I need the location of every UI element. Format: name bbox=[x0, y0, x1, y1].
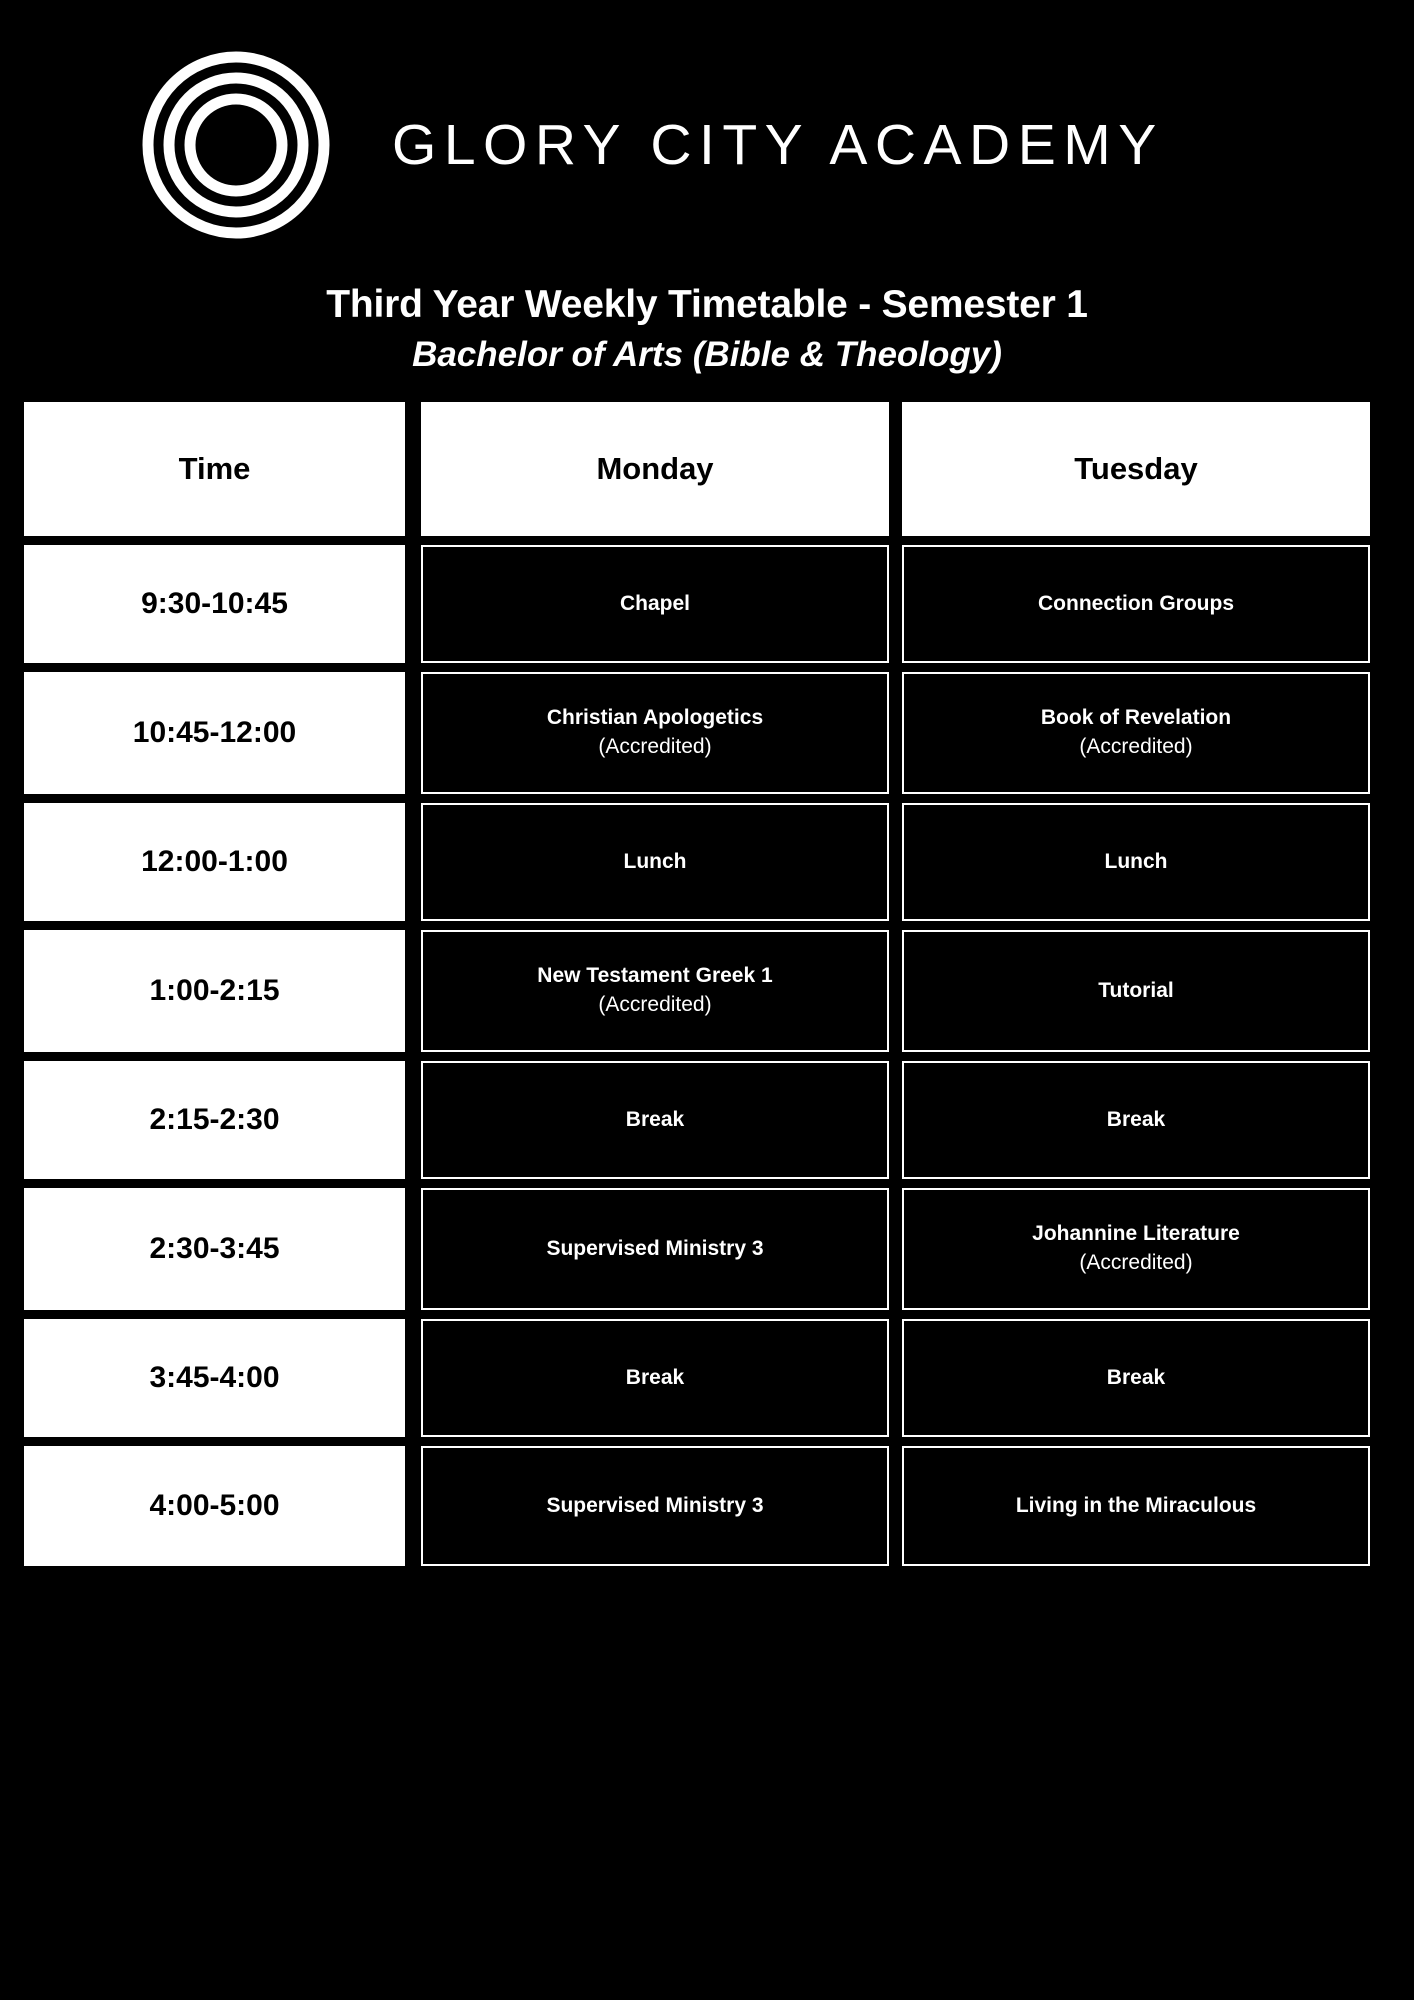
timetable-poster: GLORY CITY ACADEMY Third Year Weekly Tim… bbox=[0, 0, 1414, 2000]
table-row: 12:00-1:00 Lunch Lunch bbox=[24, 803, 1394, 921]
session-cell-tuesday: Tutorial bbox=[902, 930, 1370, 1052]
table-row: 1:00-2:15 New Testament Greek 1 (Accredi… bbox=[24, 930, 1394, 1052]
table-row: 4:00-5:00 Supervised Ministry 3 Living i… bbox=[24, 1446, 1394, 1566]
session-cell-monday: Lunch bbox=[421, 803, 889, 921]
concentric-rings-logo-icon bbox=[140, 49, 332, 241]
session-cell-monday: Supervised Ministry 3 bbox=[421, 1188, 889, 1310]
session-cell-tuesday: Johannine Literature (Accredited) bbox=[902, 1188, 1370, 1310]
session-note: (Accredited) bbox=[1079, 733, 1192, 760]
session-title: Break bbox=[1107, 1107, 1165, 1133]
session-cell-tuesday: Living in the Miraculous bbox=[902, 1446, 1370, 1566]
session-title: Supervised Ministry 3 bbox=[546, 1236, 763, 1262]
session-cell-monday: Chapel bbox=[421, 545, 889, 663]
session-title: Living in the Miraculous bbox=[1016, 1493, 1256, 1519]
table-row: 10:45-12:00 Christian Apologetics (Accre… bbox=[24, 672, 1394, 794]
session-cell-monday: Christian Apologetics (Accredited) bbox=[421, 672, 889, 794]
session-cell-monday: Supervised Ministry 3 bbox=[421, 1446, 889, 1566]
time-slot: 4:00-5:00 bbox=[24, 1446, 405, 1566]
time-slot: 3:45-4:00 bbox=[24, 1319, 405, 1437]
page-subtitle: Bachelor of Arts (Bible & Theology) bbox=[0, 334, 1414, 375]
page-title: Third Year Weekly Timetable - Semester 1 bbox=[0, 282, 1414, 328]
session-title: Break bbox=[1107, 1365, 1165, 1391]
time-slot: 1:00-2:15 bbox=[24, 930, 405, 1052]
session-title: Book of Revelation bbox=[1041, 705, 1231, 731]
session-cell-monday: Break bbox=[421, 1319, 889, 1437]
session-title: Break bbox=[626, 1107, 684, 1133]
session-title: Connection Groups bbox=[1038, 591, 1234, 617]
title-block: Third Year Weekly Timetable - Semester 1… bbox=[0, 282, 1414, 375]
session-note: (Accredited) bbox=[1079, 1249, 1192, 1276]
session-cell-tuesday: Break bbox=[902, 1061, 1370, 1179]
table-row: 2:30-3:45 Supervised Ministry 3 Johannin… bbox=[24, 1188, 1394, 1310]
column-header-monday: Monday bbox=[421, 402, 889, 536]
session-cell-tuesday: Connection Groups bbox=[902, 545, 1370, 663]
session-title: Johannine Literature bbox=[1032, 1221, 1240, 1247]
session-cell-tuesday: Break bbox=[902, 1319, 1370, 1437]
session-cell-tuesday: Lunch bbox=[902, 803, 1370, 921]
brand-wordmark: GLORY CITY ACADEMY bbox=[392, 117, 1164, 174]
session-title: Break bbox=[626, 1365, 684, 1391]
time-slot: 9:30-10:45 bbox=[24, 545, 405, 663]
session-cell-tuesday: Book of Revelation (Accredited) bbox=[902, 672, 1370, 794]
session-title: Chapel bbox=[620, 591, 690, 617]
table-row: 3:45-4:00 Break Break bbox=[24, 1319, 1394, 1437]
timetable-grid: Time Monday Tuesday 9:30-10:45 Chapel Co… bbox=[24, 402, 1394, 1566]
time-slot: 10:45-12:00 bbox=[24, 672, 405, 794]
time-slot: 2:15-2:30 bbox=[24, 1061, 405, 1179]
table-header-row: Time Monday Tuesday bbox=[24, 402, 1394, 536]
column-header-time: Time bbox=[24, 402, 405, 536]
session-note: (Accredited) bbox=[598, 733, 711, 760]
table-row: 2:15-2:30 Break Break bbox=[24, 1061, 1394, 1179]
session-title: Lunch bbox=[624, 849, 687, 875]
session-title: New Testament Greek 1 bbox=[537, 963, 772, 989]
time-slot: 2:30-3:45 bbox=[24, 1188, 405, 1310]
column-header-tuesday: Tuesday bbox=[902, 402, 1370, 536]
session-title: Lunch bbox=[1105, 849, 1168, 875]
time-slot: 12:00-1:00 bbox=[24, 803, 405, 921]
session-title: Christian Apologetics bbox=[547, 705, 763, 731]
session-cell-monday: Break bbox=[421, 1061, 889, 1179]
session-title: Supervised Ministry 3 bbox=[546, 1493, 763, 1519]
table-row: 9:30-10:45 Chapel Connection Groups bbox=[24, 545, 1394, 663]
session-title: Tutorial bbox=[1098, 978, 1173, 1004]
brand-header: GLORY CITY ACADEMY bbox=[0, 40, 1414, 250]
session-note: (Accredited) bbox=[598, 991, 711, 1018]
session-cell-monday: New Testament Greek 1 (Accredited) bbox=[421, 930, 889, 1052]
